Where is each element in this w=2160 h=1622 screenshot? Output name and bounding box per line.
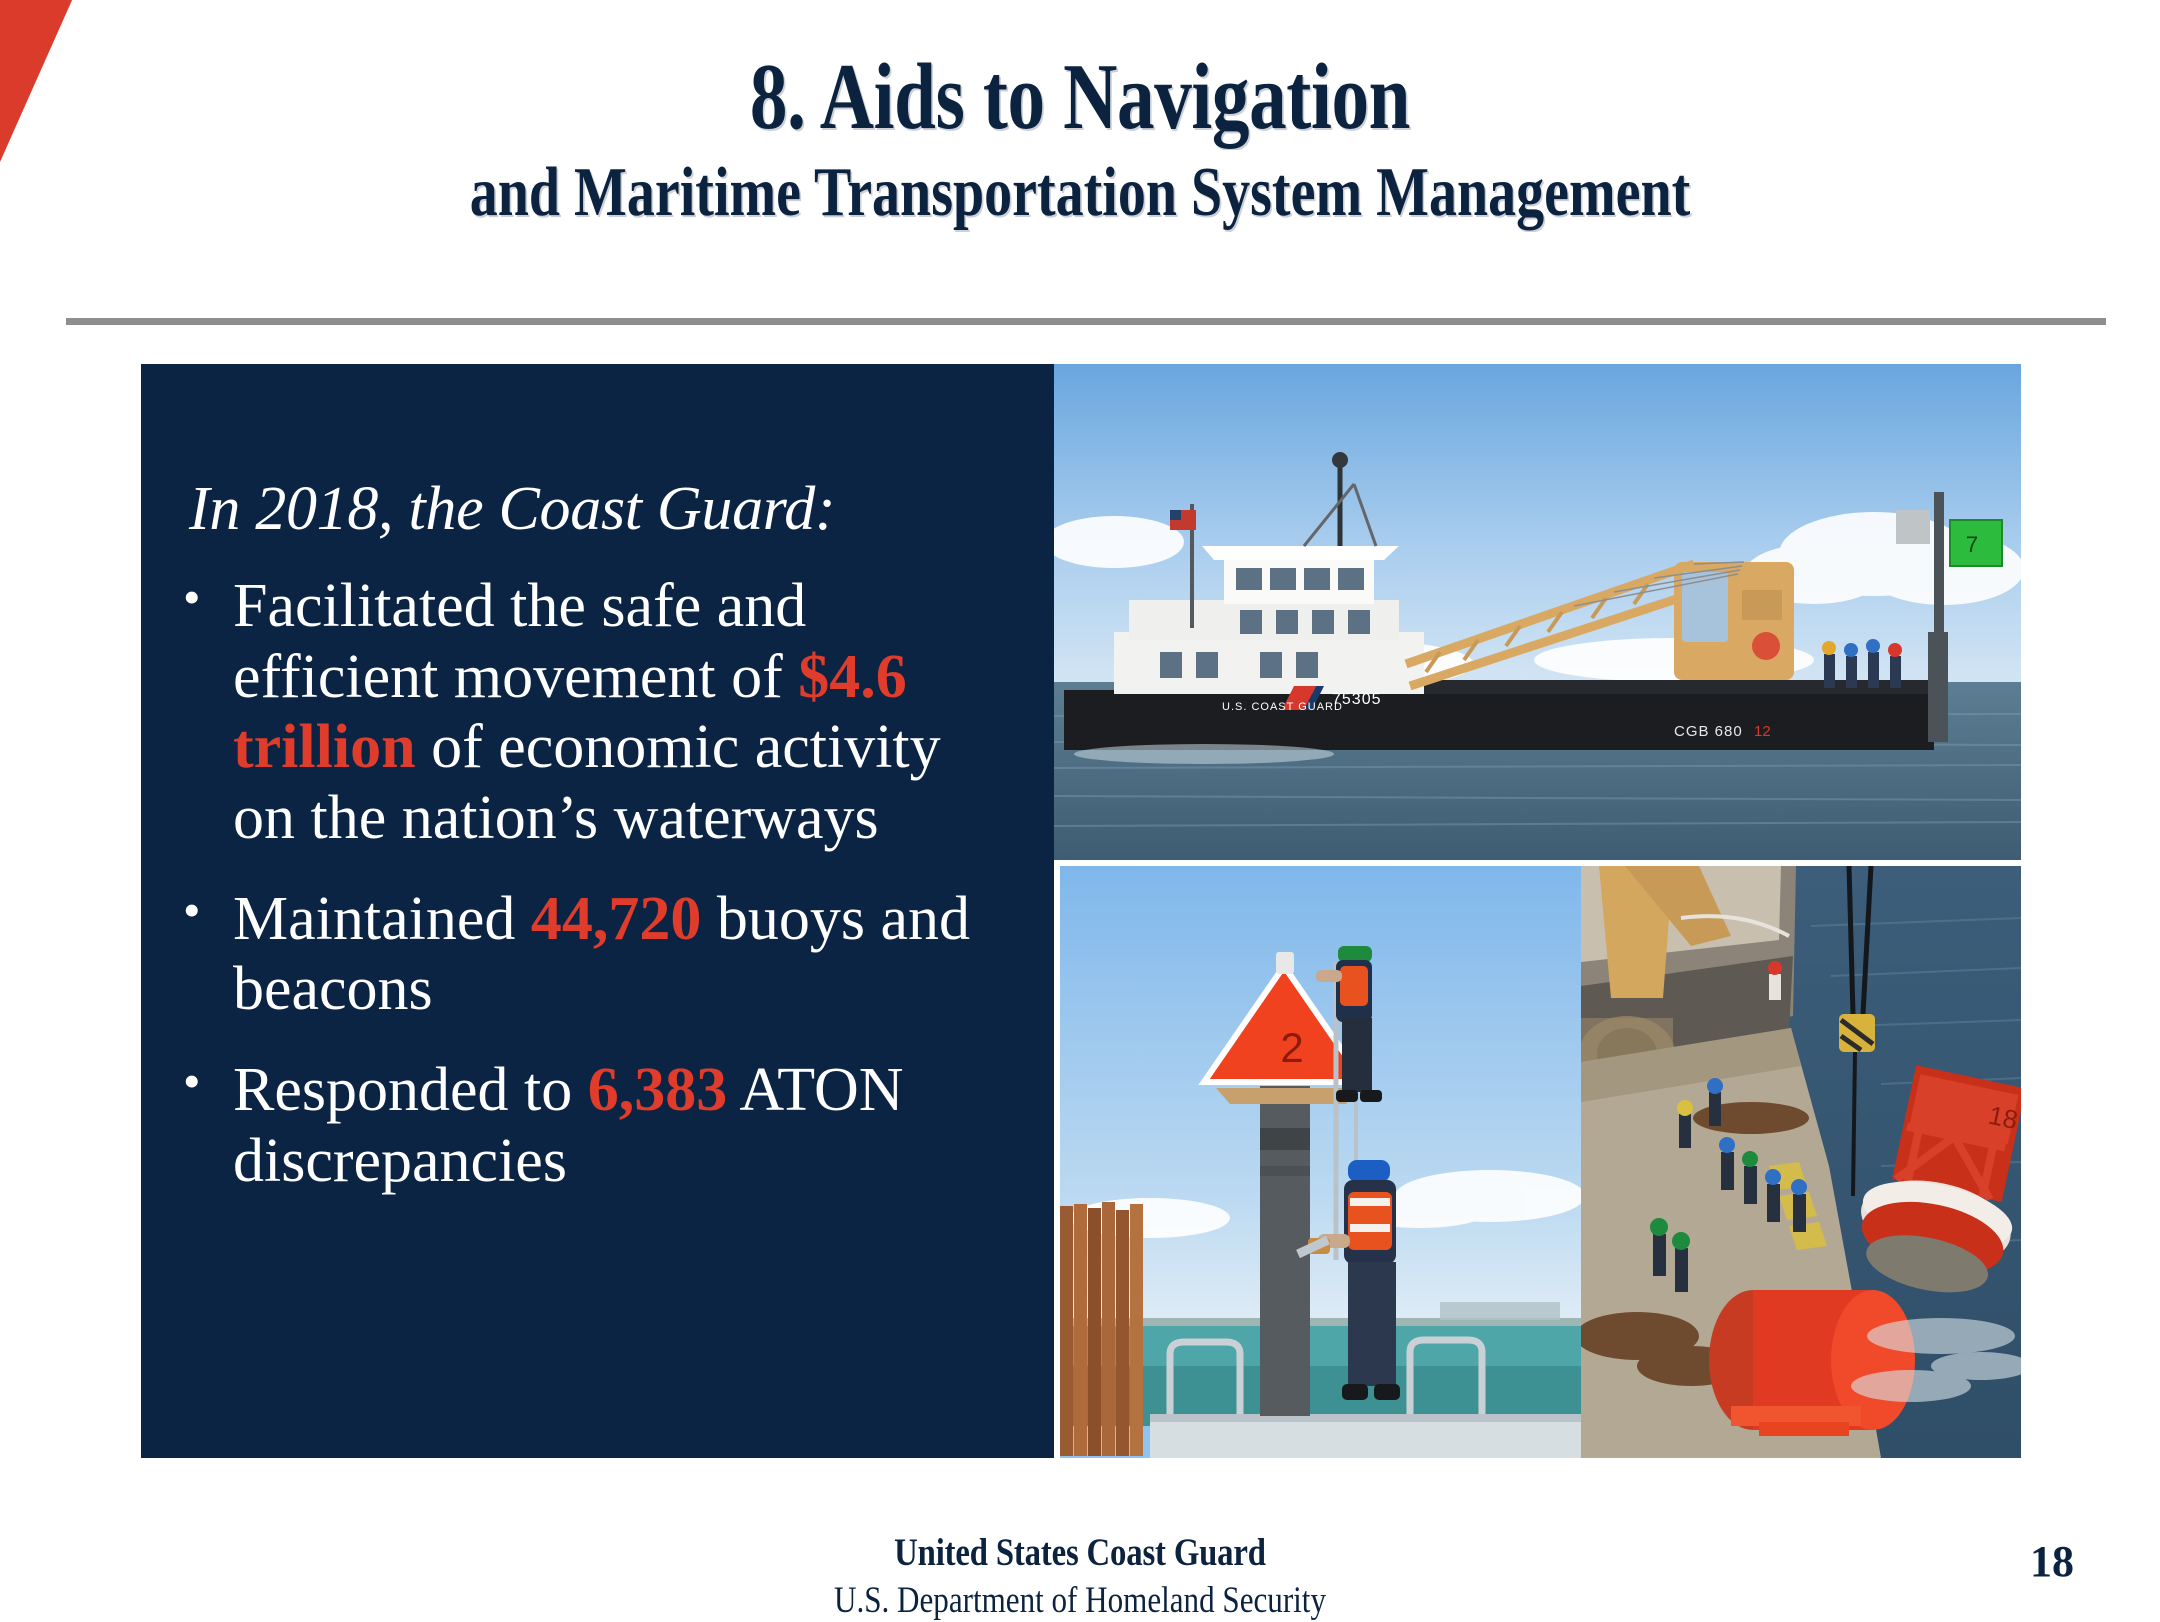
bullet-text-pre: Facilitated the safe and efficient movem…: [233, 572, 806, 711]
photo-daymark-servicing: 2: [1060, 866, 1581, 1458]
svg-text:7: 7: [1966, 532, 1978, 557]
slide-header: 8. Aids to Navigation and Maritime Trans…: [0, 50, 2160, 229]
footer-organization: United States Coast Guard: [173, 1530, 1987, 1575]
statistics-panel: In 2018, the Coast Guard: Facilitated th…: [141, 364, 1054, 1458]
page-title: 8. Aids to Navigation: [216, 50, 1944, 146]
page-subtitle: and Maritime Transportation System Manag…: [216, 156, 1944, 230]
bullet-highlight-value: 6,383: [588, 1056, 728, 1124]
svg-text:2: 2: [1280, 1024, 1303, 1071]
slide-footer: United States Coast Guard U.S. Departmen…: [0, 1530, 2160, 1622]
svg-text:CGB 680: CGB 680: [1674, 723, 1743, 740]
statistics-bullet-list: Facilitated the safe and efficient movem…: [167, 571, 1010, 1196]
photo-construction-tender: CGB 680 12: [1054, 364, 2021, 860]
page-number: 18: [2030, 1536, 2074, 1587]
slide-content: In 2018, the Coast Guard: Facilitated th…: [141, 364, 2021, 1458]
photo-buoy-recovery-image: 18: [1581, 866, 2021, 1458]
list-item: Facilitated the safe and efficient movem…: [167, 571, 1010, 854]
panel-lead-text: In 2018, the Coast Guard:: [189, 474, 1010, 545]
bullet-highlight-value: 44,720: [531, 885, 702, 953]
bullet-text-pre: Maintained: [233, 885, 531, 953]
title-divider: [66, 318, 2106, 325]
footer-department: U.S. Department of Homeland Security: [173, 1579, 1987, 1622]
svg-text:12: 12: [1754, 723, 1771, 740]
bullet-text-pre: Responded to: [233, 1056, 588, 1124]
svg-text:U.S. COAST GUARD: U.S. COAST GUARD: [1222, 701, 1343, 713]
list-item: Maintained 44,720 buoys and beacons: [167, 884, 1010, 1025]
photo-construction-tender-image: CGB 680 12: [1054, 364, 2021, 860]
photo-buoy-recovery: 18: [1581, 866, 2021, 1458]
list-item: Responded to 6,383 ATON discrepancies: [167, 1055, 1010, 1196]
svg-text:18: 18: [1986, 1100, 2021, 1135]
photo-daymark-servicing-image: 2: [1060, 866, 1581, 1458]
